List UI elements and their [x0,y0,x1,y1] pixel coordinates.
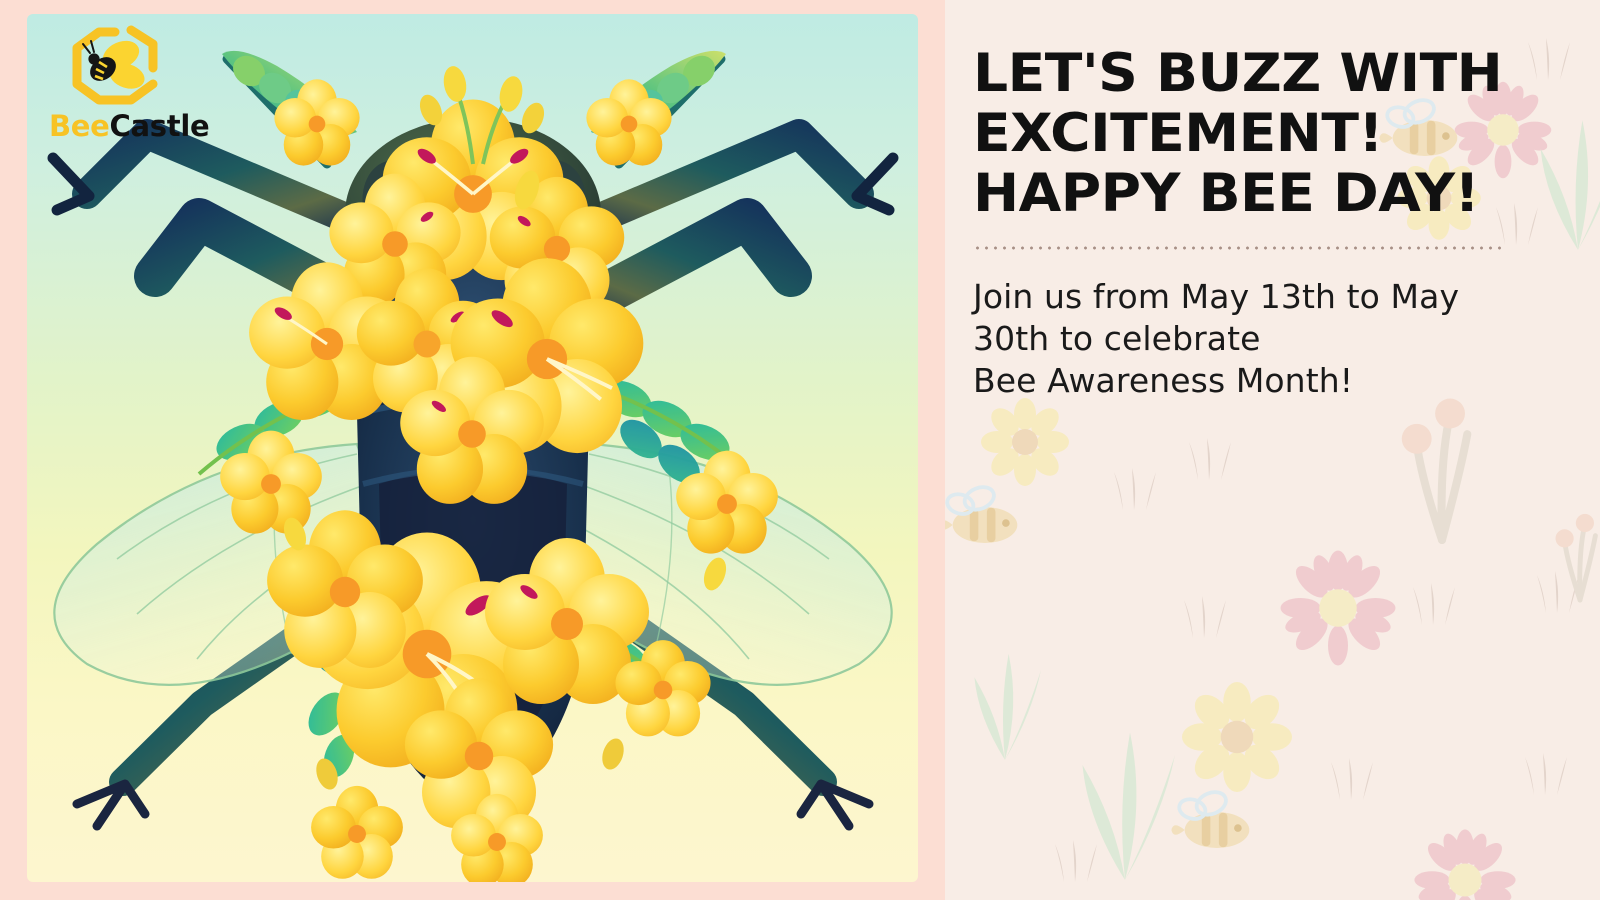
daisy-pink-icon [1414,829,1515,900]
daisy-yellow-icon [981,398,1069,486]
daisy-pink-icon [1281,551,1396,666]
artwork-card: BeeCastle [27,14,918,882]
grass-tuft-icon [1114,468,1156,510]
grass-tuft-icon [1184,596,1226,638]
grass-tuft-icon [1189,438,1231,480]
grass-tuft-icon [1525,753,1567,795]
brand-name-part2: Castle [110,109,210,143]
copy-panel: LET'S BUZZ WITH EXCITEMENT! HAPPY BEE DA… [945,0,1600,900]
bud-stem-icon [1402,399,1468,540]
copy-content: LET'S BUZZ WITH EXCITEMENT! HAPPY BEE DA… [945,0,1600,402]
brand-name-part1: Bee [49,109,110,143]
leaf-blade-icon [974,654,1041,760]
bud-stem-icon [1556,514,1596,600]
event-description: Join us from May 13th to May 30th to cel… [973,276,1552,402]
bee-icon [945,483,1017,543]
bee-icon [1171,788,1249,848]
grass-tuft-icon [1331,758,1373,800]
artwork-frame: BeeCastle [0,0,945,900]
grass-tuft-icon [1055,840,1097,882]
leaf-blade-icon [1083,733,1176,881]
poster-root: BeeCastle [0,0,1600,900]
hexagon-bee-logo-icon [69,22,161,110]
dotted-divider [973,246,1501,250]
page-title: LET'S BUZZ WITH EXCITEMENT! HAPPY BEE DA… [973,44,1575,224]
brand-logo[interactable]: BeeCastle [49,22,214,147]
daisy-yellow-icon [1182,682,1292,792]
grass-tuft-icon [1413,583,1455,625]
brand-wordmark: BeeCastle [49,112,214,141]
